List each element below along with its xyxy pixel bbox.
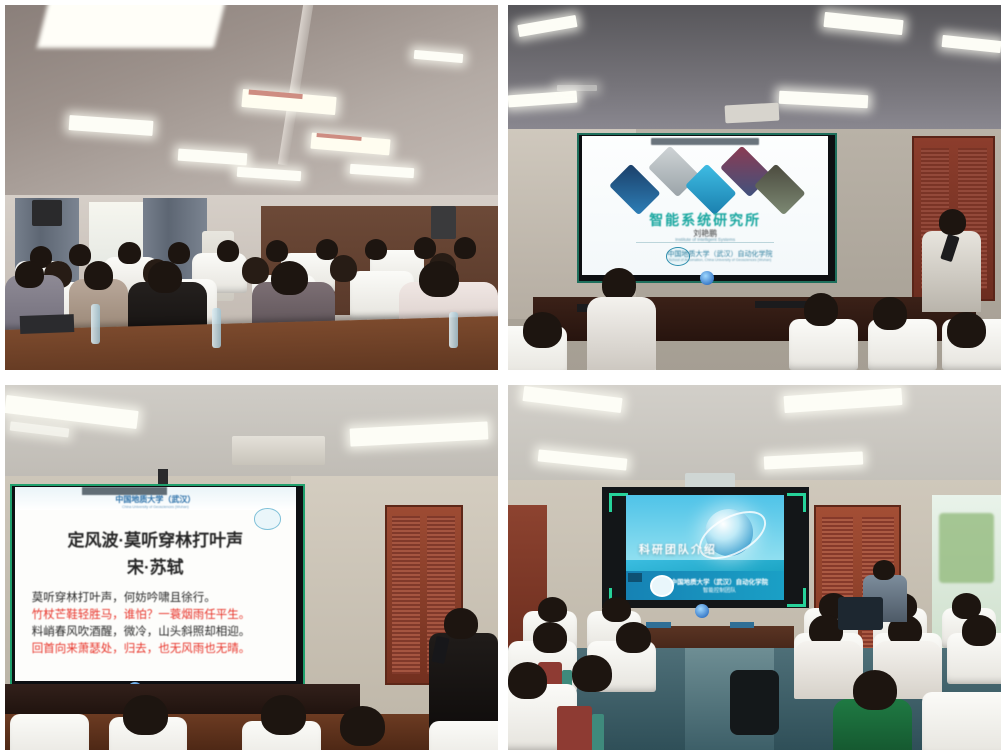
chair-cover [429,721,498,750]
student-head [533,622,568,653]
slide-header-org: 中国地质大学（武汉） [15,494,296,505]
audience-head [69,244,91,266]
audience-head [84,261,114,290]
slide-title: 科研团队介绍 [639,541,717,557]
slide-sidebar [628,573,642,583]
student-head [853,670,897,710]
audience-head [365,239,387,261]
audience-head [123,695,167,735]
chair-cover [789,319,858,370]
audience-head [168,242,190,264]
podium-panel [755,301,809,308]
panel-speaker-with-poem-slide: 中国地质大学（武汉） China University of Geoscienc… [5,385,498,750]
audience-head [242,257,269,284]
student-head [616,622,651,653]
ceiling-ac-unit [232,436,326,465]
slide-band-subtitle: 智能控制团队 [641,586,785,594]
desk-device [646,622,671,628]
chair-cover [922,692,1001,750]
chair-side-rail [592,714,604,751]
audience-head [873,297,908,330]
slide-header-org-en: China University of Geosciences (Wuhan) [15,505,296,509]
audience-head [602,268,637,301]
wall-speaker [32,200,62,226]
poem-slide: 中国地质大学（武汉） China University of Geoscienc… [15,487,296,680]
ceiling-projector [724,102,779,123]
desk-device [730,622,755,628]
audience-head [271,261,308,296]
screen-corner-marker [787,588,806,607]
projection-screen: 中国地质大学（武汉） China University of Geoscienc… [15,487,296,680]
chair-cover [10,714,89,751]
audience-head [266,240,288,262]
slide-footer-org: 中国地质大学（武汉）自动化学院 [597,249,829,259]
audience-head [419,261,458,298]
poem-title: 定风波·莫听穿林打叶声 [15,526,296,551]
photo-collage: 智能系统研究所 刘艳鹏 Institute of Intelligent Sys… [0,0,1006,755]
attendee-white-shirt [587,297,656,370]
audience-head [217,240,239,262]
student-head [602,597,632,623]
projection-screen: 智能系统研究所 刘艳鹏 Institute of Intelligent Sys… [582,136,829,275]
panel-presenter-with-title-slide: 智能系统研究所 刘艳鹏 Institute of Intelligent Sys… [508,5,1001,370]
audience-head [330,255,357,282]
laptop [19,314,74,334]
presenter-head [873,560,895,580]
presenter-head [939,209,966,235]
screen-corner-marker [609,493,628,512]
poem-line: 料峭春风吹酒醒，微冷，山头斜照却相迎。 [32,624,279,641]
slide-title: 智能系统研究所 [582,210,829,230]
water-bottle [91,304,100,344]
wall-speaker [431,206,456,239]
lectern [838,597,882,630]
panel-audience-seated-at-desks [5,5,498,370]
title-slide: 智能系统研究所 刘艳鹏 Institute of Intelligent Sys… [582,136,829,275]
audience-head [340,706,384,746]
skylight-glare [37,5,229,49]
water-bottle [212,308,221,348]
ceiling-light [557,85,596,91]
chair-back [557,706,592,750]
water-bottle [449,312,458,349]
audience-head [118,242,140,264]
audience-head [454,237,476,259]
audience-head [523,312,562,349]
slide-topbar [651,138,759,145]
screen-corner-marker [787,493,806,512]
slide-subtitle: Institute of Intelligent Systems [582,237,829,242]
projection-screen: 科研团队介绍 中国地质大学（武汉）自动化学院 智能控制团队 [626,495,784,601]
student-head [508,662,547,699]
poem-line: 莫听穿林打叶声，何妨吟啸且徐行。 [32,590,279,607]
poem-line: 竹杖芒鞋轻胜马，谁怕？一蓑烟雨任平生。 [32,607,279,624]
student-head [538,597,568,623]
poem-line: 回首向来萧瑟处，归去，也无风雨也无晴。 [32,641,279,658]
team-intro-slide: 科研团队介绍 中国地质大学（武汉）自动化学院 智能控制团队 [626,495,784,601]
slide-footer-subtitle: School of Automation, China University o… [597,258,829,262]
audience-head [804,293,839,326]
audience-head [148,261,183,294]
backpack [730,670,779,736]
audience-head [947,312,986,349]
panel-lecture-hall-rear-view: 科研团队介绍 中国地质大学（武汉）自动化学院 智能控制团队 [508,385,1001,750]
student-head [572,655,611,692]
audience-head [15,261,45,288]
speaker-head [444,608,479,639]
poem-author: 宋·苏轼 [15,553,296,578]
student-head [962,615,997,646]
slide-band-org: 中国地质大学（武汉）自动化学院 [641,576,785,586]
poem-body: 莫听穿林打叶声，何妨吟啸且徐行。 竹杖芒鞋轻胜马，谁怕？一蓑烟雨任平生。 料峭春… [32,590,279,658]
audience-head [261,695,305,735]
